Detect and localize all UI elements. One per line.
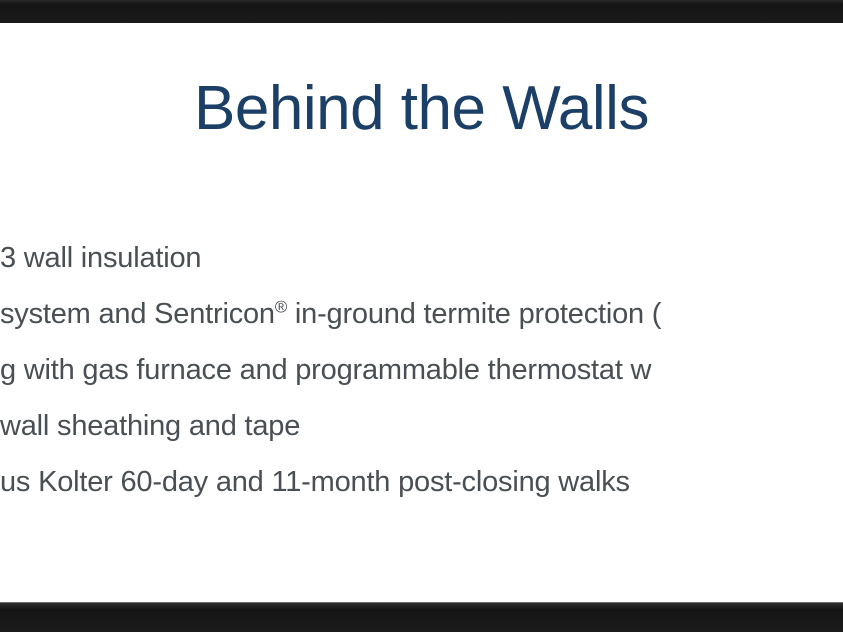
list-item-text-sentricon: system and Sentricon® in-ground termite … bbox=[0, 298, 661, 330]
bottom-letterbox-bar bbox=[0, 602, 843, 632]
list-item: 3 wall insulation bbox=[0, 230, 843, 286]
slide-content-area: Behind the Walls 3 wall insulation syste… bbox=[0, 23, 843, 602]
list-item: g with gas furnace and programmable ther… bbox=[0, 342, 843, 398]
page-title: Behind the Walls bbox=[0, 78, 843, 140]
registered-trademark-icon: ® bbox=[275, 297, 287, 316]
top-letterbox-bar bbox=[0, 0, 843, 24]
feature-list: 3 wall insulation system and Sentricon® … bbox=[0, 230, 843, 510]
list-item: us Kolter 60-day and 11-month post-closi… bbox=[0, 454, 843, 510]
slide-screen: Behind the Walls 3 wall insulation syste… bbox=[0, 0, 843, 632]
list-item: wall sheathing and tape bbox=[0, 398, 843, 454]
list-item: system and Sentricon® in-ground termite … bbox=[0, 286, 843, 342]
